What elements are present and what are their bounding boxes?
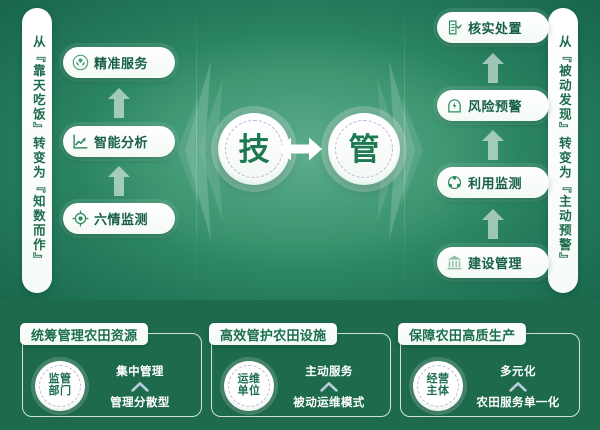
role-circle: 监管 部门 xyxy=(35,361,85,411)
state-origin: 被动运维模式 xyxy=(293,394,364,410)
pill-utilization-monitor[interactable]: 利用监测 xyxy=(437,167,549,198)
core-circle-management: 管 xyxy=(328,113,400,185)
pill-precise-service[interactable]: 精准服务 xyxy=(63,47,175,78)
panel-title: 保障农田高质生产 xyxy=(398,323,526,345)
bank-building-icon xyxy=(446,254,463,271)
panel-body: 监管 部门 集中管理 管理分散型 xyxy=(23,354,201,418)
panel-farmland-resources: 统筹管理农田资源 监管 部门 集中管理 管理分散型 xyxy=(22,333,202,417)
pill-risk-warning[interactable]: 风险预警 xyxy=(437,90,549,121)
target-monitor-icon xyxy=(72,210,89,227)
arrow-up-icon xyxy=(108,88,130,118)
arrow-up-icon xyxy=(482,130,504,160)
panel-farmland-production: 保障农田高质生产 经营 主体 多元化 农田服务单一化 xyxy=(400,333,580,417)
recycle-nodes-icon xyxy=(446,174,463,191)
role-line-2: 部门 xyxy=(49,386,72,398)
state-transition: 集中管理 管理分散型 xyxy=(85,363,201,410)
pill-label: 核实处置 xyxy=(468,18,522,37)
pill-label: 利用监测 xyxy=(468,173,522,192)
infographic-canvas: 从『靠天吃饭』转变为『知数而作』 从『被动发现』转变为『主动预警』 精准服务 智… xyxy=(0,0,600,430)
arrow-up-icon xyxy=(482,209,504,239)
left-banner-text: 从『靠天吃饭』转变为『知数而作』 xyxy=(30,35,44,267)
pill-label: 智能分析 xyxy=(94,132,148,151)
clipboard-check-icon xyxy=(446,19,463,36)
core-ring: 管 xyxy=(335,120,393,178)
pill-construction-management[interactable]: 建设管理 xyxy=(437,247,549,278)
pill-label: 建设管理 xyxy=(468,253,522,272)
state-target: 主动服务 xyxy=(305,363,353,379)
pill-label: 风险预警 xyxy=(468,96,522,115)
trend-chart-icon xyxy=(72,133,89,150)
panel-farmland-facilities: 高效管护农田设施 运维 单位 主动服务 被动运维模式 xyxy=(211,333,391,417)
state-transition: 主动服务 被动运维模式 xyxy=(274,363,390,410)
panel-title: 高效管护农田设施 xyxy=(209,323,337,345)
core-glyph: 管 xyxy=(349,134,380,165)
double-arrow-icon xyxy=(278,134,322,164)
role-circle: 经营 主体 xyxy=(413,361,463,411)
role-circle-inner: 监管 部门 xyxy=(39,365,81,407)
chevron-up-icon xyxy=(509,381,527,392)
panel-title: 统筹管理农田资源 xyxy=(20,323,148,345)
panel-body: 经营 主体 多元化 农田服务单一化 xyxy=(401,354,579,418)
chevron-up-icon xyxy=(320,381,338,392)
pill-six-condition-monitor[interactable]: 六情监测 xyxy=(63,203,175,234)
state-origin: 农田服务单一化 xyxy=(476,394,559,410)
pill-label: 精准服务 xyxy=(94,53,148,72)
state-target: 多元化 xyxy=(500,363,536,379)
arrow-up-icon xyxy=(482,53,504,83)
alert-shield-icon xyxy=(446,97,463,114)
core-ring: 技 xyxy=(225,120,283,178)
right-banner-text: 从『被动发现』转变为『主动预警』 xyxy=(556,35,570,267)
role-line-2: 主体 xyxy=(427,386,450,398)
role-circle: 运维 单位 xyxy=(224,361,274,411)
panel-body: 运维 单位 主动服务 被动运维模式 xyxy=(212,354,390,418)
state-transition: 多元化 农田服务单一化 xyxy=(463,363,579,410)
role-circle-inner: 运维 单位 xyxy=(228,365,270,407)
role-circle-inner: 经营 主体 xyxy=(417,365,459,407)
role-line-2: 单位 xyxy=(238,386,261,398)
pill-verify-disposal[interactable]: 核实处置 xyxy=(437,12,549,43)
arrow-up-icon xyxy=(108,166,130,196)
state-origin: 管理分散型 xyxy=(110,394,170,410)
chevron-up-icon xyxy=(131,381,149,392)
state-target: 集中管理 xyxy=(116,363,164,379)
hands-plant-icon xyxy=(72,54,89,71)
pill-label: 六情监测 xyxy=(94,209,148,228)
core-glyph: 技 xyxy=(239,134,270,165)
pill-smart-analysis[interactable]: 智能分析 xyxy=(63,126,175,157)
right-transformation-banner: 从『被动发现』转变为『主动预警』 xyxy=(548,8,578,293)
left-transformation-banner: 从『靠天吃饭』转变为『知数而作』 xyxy=(22,8,52,293)
